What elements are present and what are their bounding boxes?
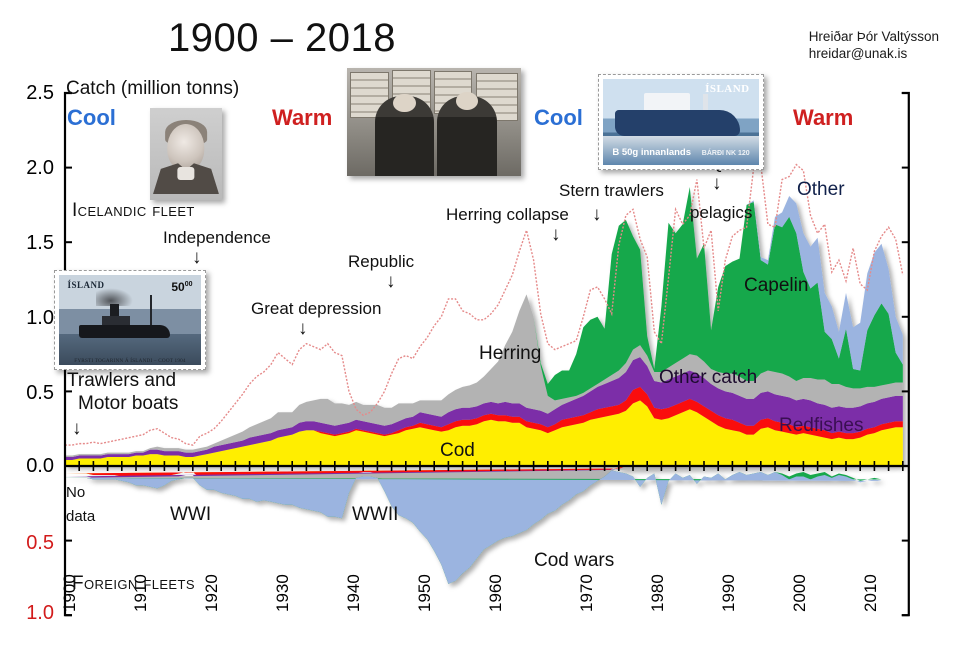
right-axis	[902, 93, 909, 615]
x-tick-1960: 1960	[486, 574, 506, 612]
annotation-republic: Republic	[348, 252, 414, 272]
y-tick-2.5: 2.5	[6, 82, 54, 105]
annotation-great-depression: Great depression	[251, 299, 381, 319]
x-tick-1930: 1930	[273, 574, 293, 612]
panel-label-icelandic-fleet: Icelandic fleet	[72, 200, 195, 222]
panel-label-foreign-fleets: Foreign fleets	[72, 573, 195, 595]
annotation-independence-arrow: ↓	[192, 247, 202, 269]
annotation-independence: Independence	[163, 228, 271, 248]
stamp-caption-old: FYRSTI TOGARINN Á ÍSLANDI – COOT 1904	[59, 358, 201, 364]
annotation-wwi: WWI	[170, 504, 211, 526]
stamp-registration: BÁRÐI NK 120	[702, 150, 750, 157]
series-label-redfishes: Redfishes	[779, 415, 864, 437]
x-tick-1950: 1950	[415, 574, 435, 612]
x-tick-1940: 1940	[344, 574, 364, 612]
stamp-coot-1904: ÍSLAND 5000 FYRSTI TOGARINN Á ÍSLANDI – …	[54, 270, 206, 370]
hull-icon	[79, 325, 170, 339]
y-tick-0.5: 0.5	[6, 382, 54, 405]
series-label-capelin: Capelin	[744, 275, 808, 297]
climate-band-cool-2: Cool	[534, 105, 583, 131]
stamp-country-old: ÍSLAND	[68, 280, 105, 290]
y-tick-2.0: 2.0	[6, 157, 54, 180]
x-tick-2010: 2010	[861, 574, 881, 612]
series-label-herring: Herring	[479, 343, 541, 365]
factory-worker-1-face	[393, 94, 416, 112]
annotation-pelagics: pelagics	[690, 203, 752, 223]
annotation-cod-wars: Cod wars	[534, 550, 614, 572]
stamp-bardi-nk120: ÍSLAND B 50g innanlands BÁRÐI NK 120	[598, 74, 764, 170]
x-tick-1980: 1980	[648, 574, 668, 612]
annotation-wwii: WWII	[352, 504, 398, 526]
stamp-coot-artwork: ÍSLAND 5000 FYRSTI TOGARINN Á ÍSLANDI – …	[59, 275, 201, 365]
series-label-cod: Cod	[440, 440, 475, 462]
annotation-stern-trawlers: Stern trawlers	[559, 181, 664, 201]
annotation-herring-collapse-arrow: ↓	[592, 204, 602, 226]
y-axis-title: Catch (million tonns)	[66, 78, 239, 100]
stamp-denomination: B 50g innanlands	[612, 147, 691, 158]
annotation-motor-boats: Motor boats	[78, 393, 178, 415]
y-tick-0.0: 0.0	[6, 455, 54, 478]
y-tick-neg-0.5: 0.5	[6, 532, 54, 555]
x-tick-1990: 1990	[719, 574, 739, 612]
portrait-collar	[177, 167, 194, 180]
no-data-label-line2: data	[66, 508, 95, 525]
annotation-herring-collapse: Herring collapse	[446, 205, 569, 225]
herring-factory-photo	[347, 68, 521, 176]
annotation-itqs-arrow: ↓	[712, 173, 722, 195]
stamp-bardi-artwork: ÍSLAND B 50g innanlands BÁRÐI NK 120	[603, 79, 759, 165]
trawler-hull-icon	[615, 110, 740, 136]
climate-band-cool-1: Cool	[67, 105, 116, 131]
x-tick-1920: 1920	[202, 574, 222, 612]
y-tick-1.5: 1.5	[6, 232, 54, 255]
series-label-other-pelagics: Other	[797, 179, 845, 201]
climate-band-warm-1: Warm	[272, 105, 332, 131]
annotation-trawlers-and: Trawlers and	[67, 370, 176, 392]
annotation-trawlers-arrow: ↓	[72, 418, 82, 440]
x-tick-2000: 2000	[790, 574, 810, 612]
portrait-photo	[150, 108, 222, 200]
y-tick-1.0: 1.0	[6, 307, 54, 330]
stamp-country-new: ÍSLAND	[705, 83, 750, 95]
annotation-great-depression-arrow: ↓	[298, 318, 308, 340]
annotation-herring-collapse-arrow-2: ↓	[551, 224, 561, 246]
y-tick-neg-1.0: 1.0	[6, 602, 54, 625]
mast-icon	[150, 295, 152, 326]
series-label-other-catch: Other catch	[659, 367, 757, 389]
annotation-republic-arrow: ↓	[386, 271, 396, 293]
stamp-value-old: 5000	[171, 280, 192, 294]
area-other-pelagics	[65, 470, 882, 583]
no-data-label-line1: No	[66, 484, 85, 501]
portrait-head	[167, 124, 204, 172]
x-tick-1970: 1970	[577, 574, 597, 612]
climate-band-warm-2: Warm	[793, 105, 853, 131]
